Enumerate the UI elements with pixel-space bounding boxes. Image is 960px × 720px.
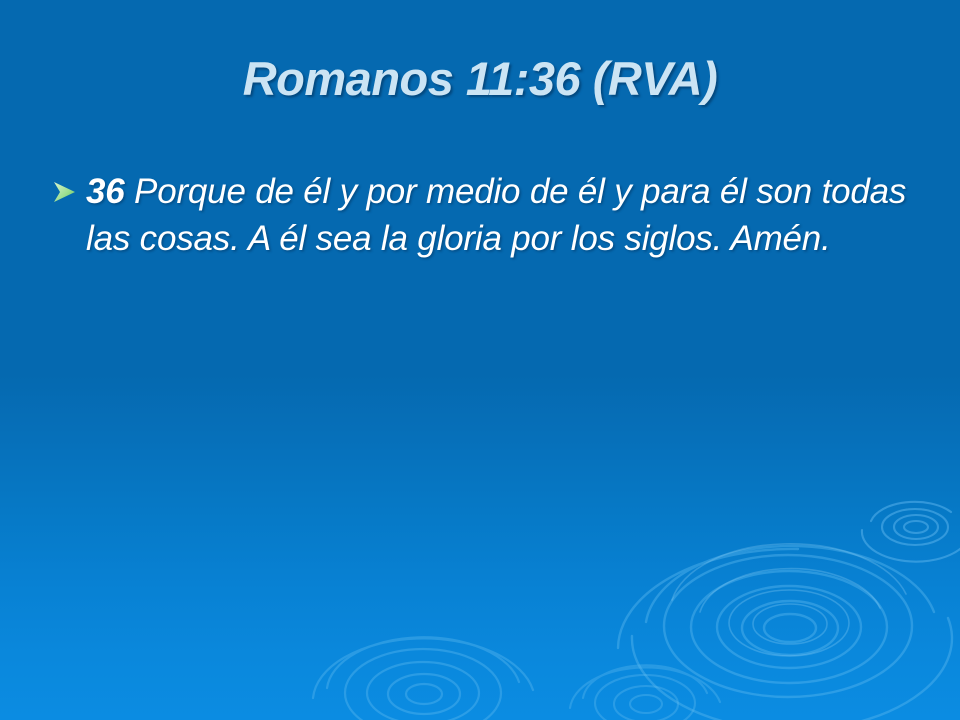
arrowhead-bullet-icon bbox=[52, 168, 86, 204]
ripple-small-left bbox=[570, 665, 720, 720]
ripple-mid-left bbox=[313, 637, 533, 720]
slide-title-text: Romanos 11:36 (RVA) bbox=[243, 54, 718, 103]
bullet-list-item: 36 Porque de él y por medio de él y para… bbox=[52, 168, 908, 262]
presentation-slide: Romanos 11:36 (RVA) 36 Porque de bbox=[0, 0, 960, 720]
verse-number: 36 bbox=[86, 172, 125, 211]
water-ripple-decoration bbox=[0, 0, 960, 720]
ripple-large-right bbox=[618, 546, 952, 720]
ripple-large-right-highlight bbox=[672, 544, 906, 656]
verse-body-text: Porque de él y por medio de él y para él… bbox=[86, 172, 906, 258]
slide-title: Romanos 11:36 (RVA) bbox=[0, 54, 960, 103]
ripple-small-corner bbox=[862, 502, 960, 562]
verse-text: 36 Porque de él y por medio de él y para… bbox=[86, 168, 908, 262]
slide-body: 36 Porque de él y por medio de él y para… bbox=[52, 168, 908, 262]
